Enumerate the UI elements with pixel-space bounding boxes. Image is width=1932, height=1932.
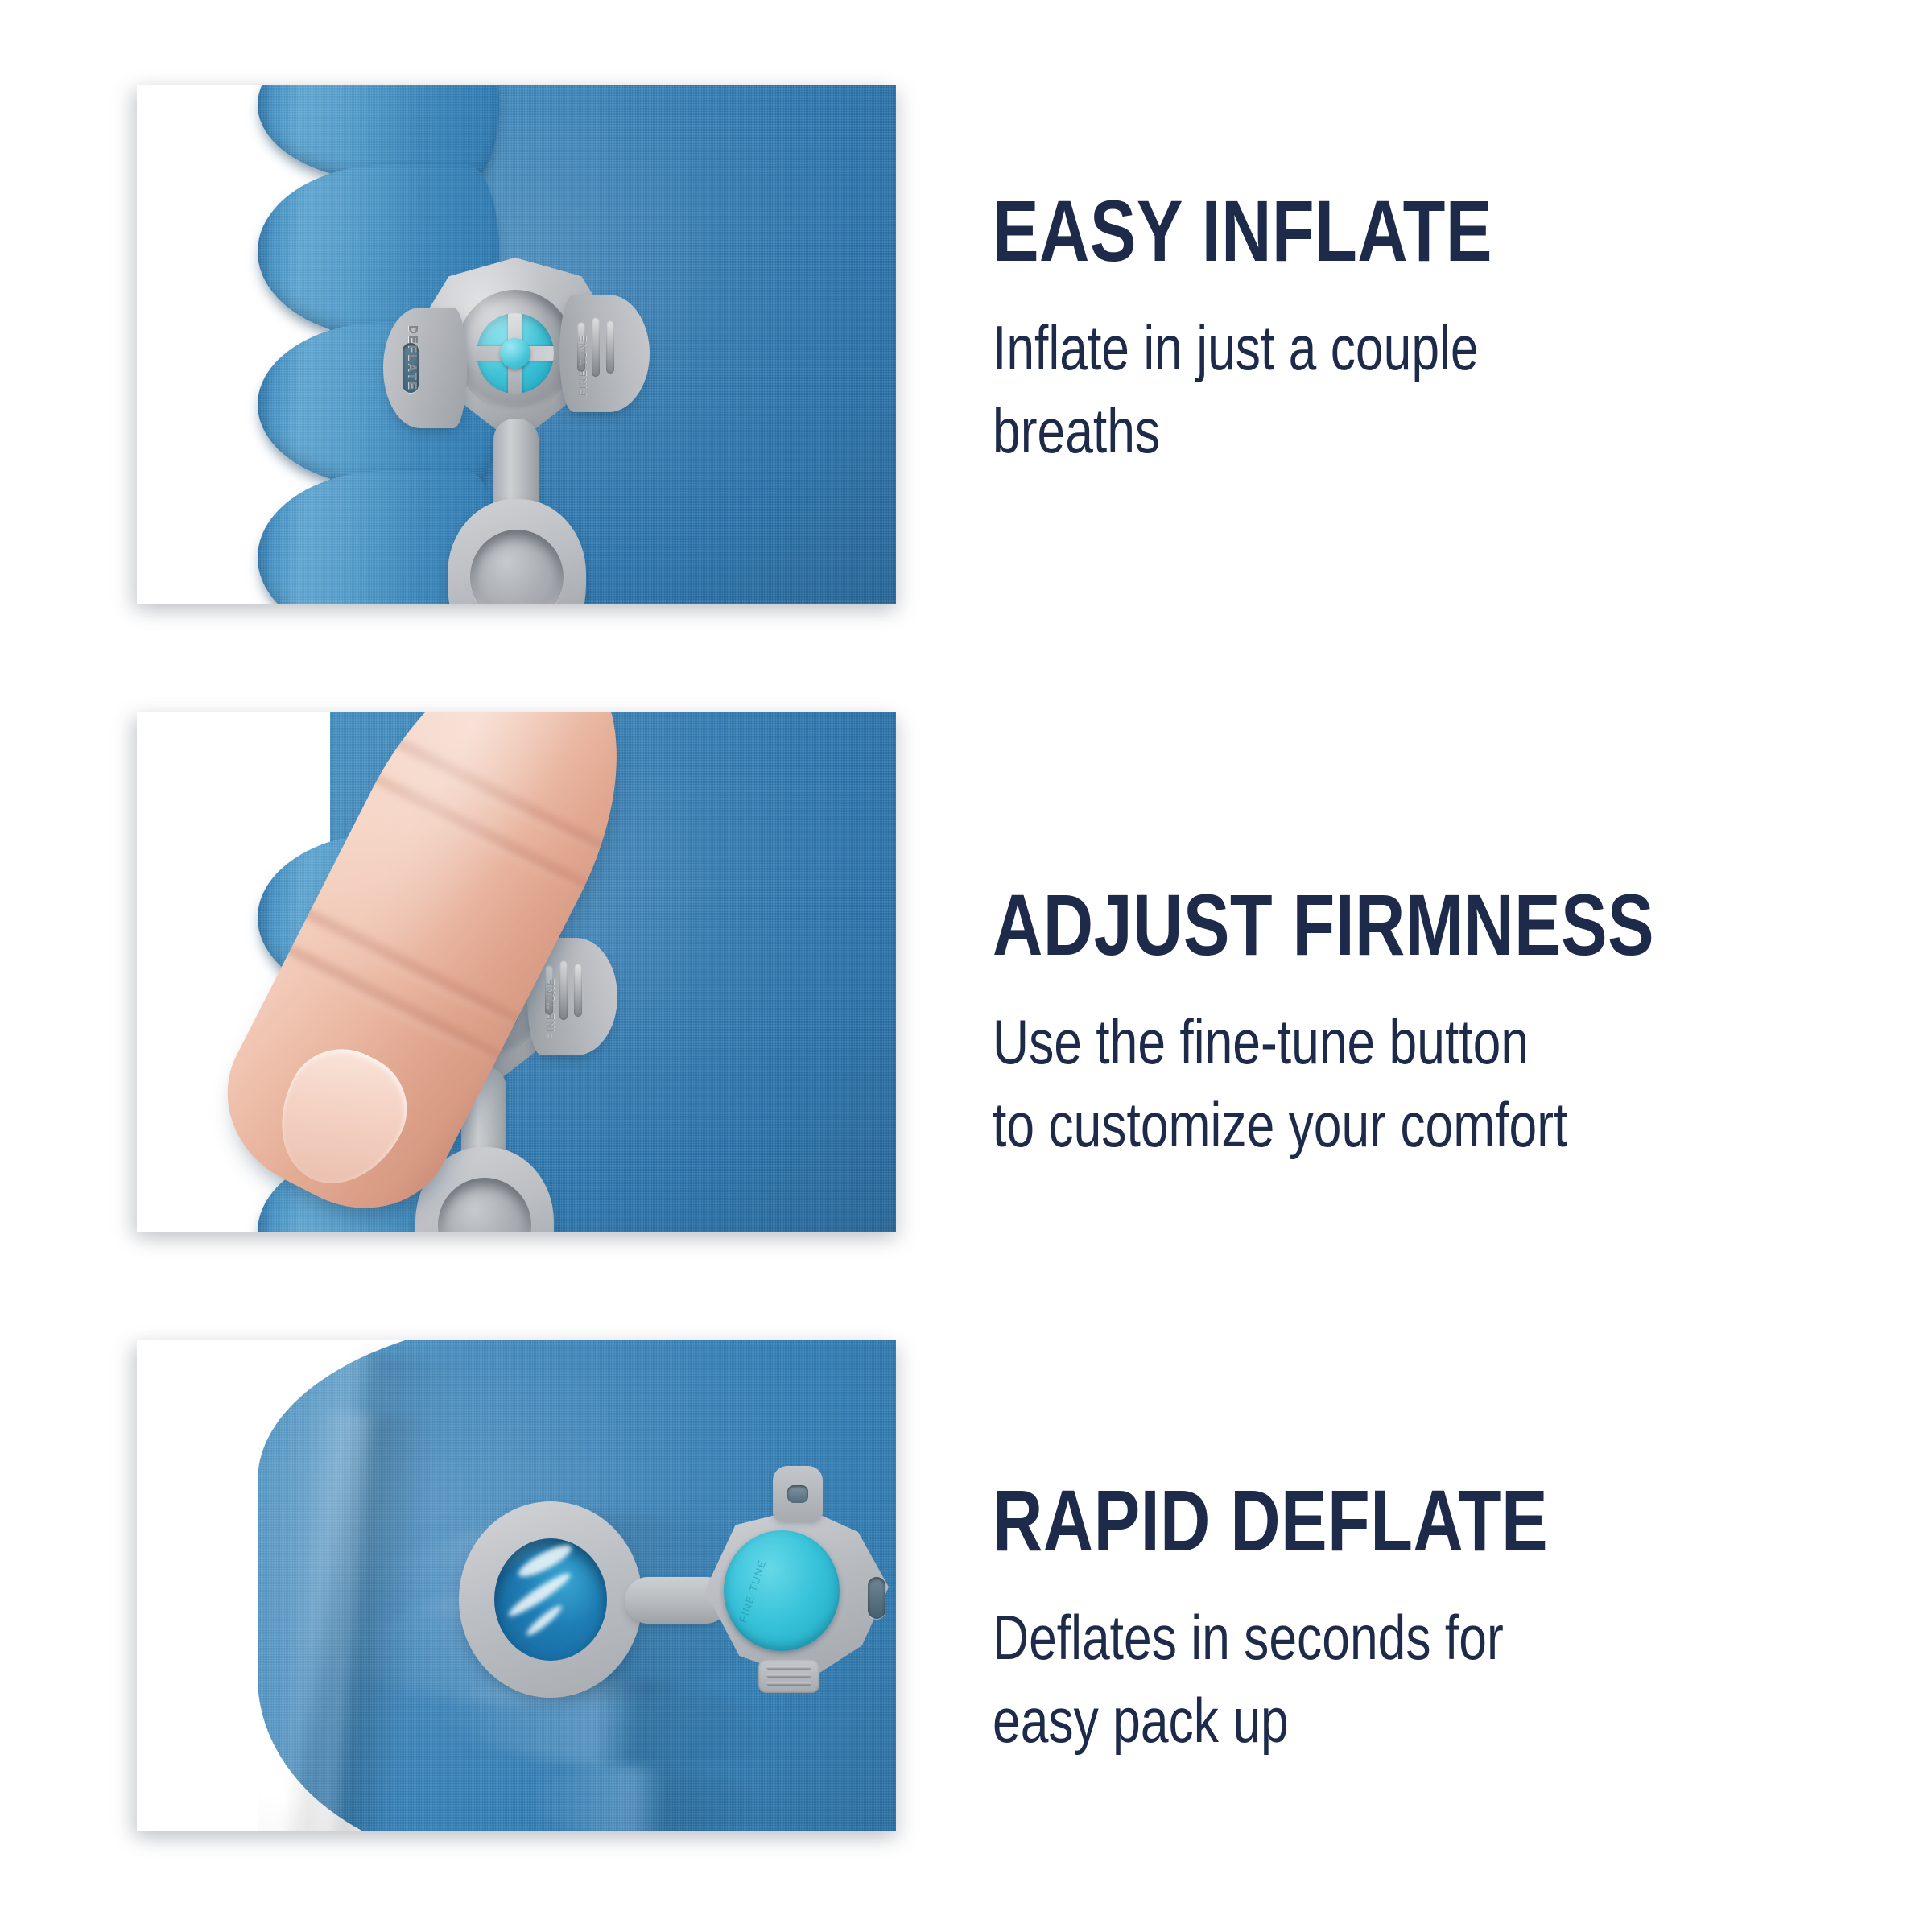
feature-description: Use the fine-tune button to customize yo…: [993, 1001, 1701, 1166]
valve-assembly-horizontal: FINE TUNE: [459, 1493, 894, 1703]
valve-bowl: [456, 290, 574, 412]
valve-cap-plate[interactable]: FINE TUNE: [697, 1508, 889, 1680]
feature-text-rapid-deflate: RAPID DEFLATE Deflates in seconds for ea…: [993, 1340, 1878, 1762]
feature-text-adjust-firmness: ADJUST FIRMNESS Use the fine-tune button…: [993, 712, 1878, 1166]
feature-row-easy-inflate: DEFLATE FINE TUNE EASY INFLATE: [0, 85, 1932, 604]
valve-deflate-label: DEFLATE: [406, 325, 419, 414]
feature-title: ADJUST FIRMNESS: [993, 881, 1701, 968]
feature-text-easy-inflate: EASY INFLATE Inflate in just a couple br…: [993, 85, 1878, 473]
photo-panel-adjust-firmness: DEFLATE FINE TUNE: [137, 712, 896, 1232]
valve-rib-pad: [758, 1659, 819, 1693]
feature-description: Inflate in just a couple breaths: [993, 307, 1701, 473]
teal-valve-cap[interactable]: FINE TUNE: [724, 1530, 840, 1651]
valve-fine-tune-label: FINE TUNE: [545, 977, 556, 1039]
valve-pull-loop[interactable]: [773, 1466, 823, 1521]
teal-cap-embossed-label: FINE TUNE: [737, 1558, 769, 1624]
fine-tune-button[interactable]: [477, 313, 554, 394]
open-valve-port[interactable]: [459, 1501, 642, 1698]
valve-side-slot: [868, 1577, 885, 1619]
feature-infographic: DEFLATE FINE TUNE EASY INFLATE: [0, 0, 1932, 1932]
valve-port-opening: [494, 1538, 607, 1661]
valve-cap[interactable]: [448, 499, 586, 604]
valve-fine-tune-label: FINE TUNE: [577, 334, 588, 396]
feature-row-adjust-firmness: DEFLATE FINE TUNE: [0, 712, 1932, 1232]
feature-description: Deflates in seconds for easy pack up: [993, 1596, 1701, 1762]
valve-cap-recess: [438, 1178, 531, 1232]
valve-wing-left: DEFLATE: [383, 308, 467, 428]
feature-title: EASY INFLATE: [993, 188, 1701, 275]
valve-cap-recess: [470, 530, 563, 604]
valve-wing-right: FINE TUNE: [559, 295, 650, 412]
feature-title: RAPID DEFLATE: [993, 1477, 1701, 1564]
valve-assembly: DEFLATE FINE TUNE: [386, 258, 644, 580]
photo-panel-rapid-deflate: FINE TUNE: [137, 1340, 896, 1831]
photo-panel-easy-inflate: DEFLATE FINE TUNE: [137, 85, 896, 604]
feature-row-rapid-deflate: FINE TUNE RAPID DEFLATE Deflates in seco…: [0, 1340, 1932, 1831]
valve-hub: [500, 338, 530, 369]
